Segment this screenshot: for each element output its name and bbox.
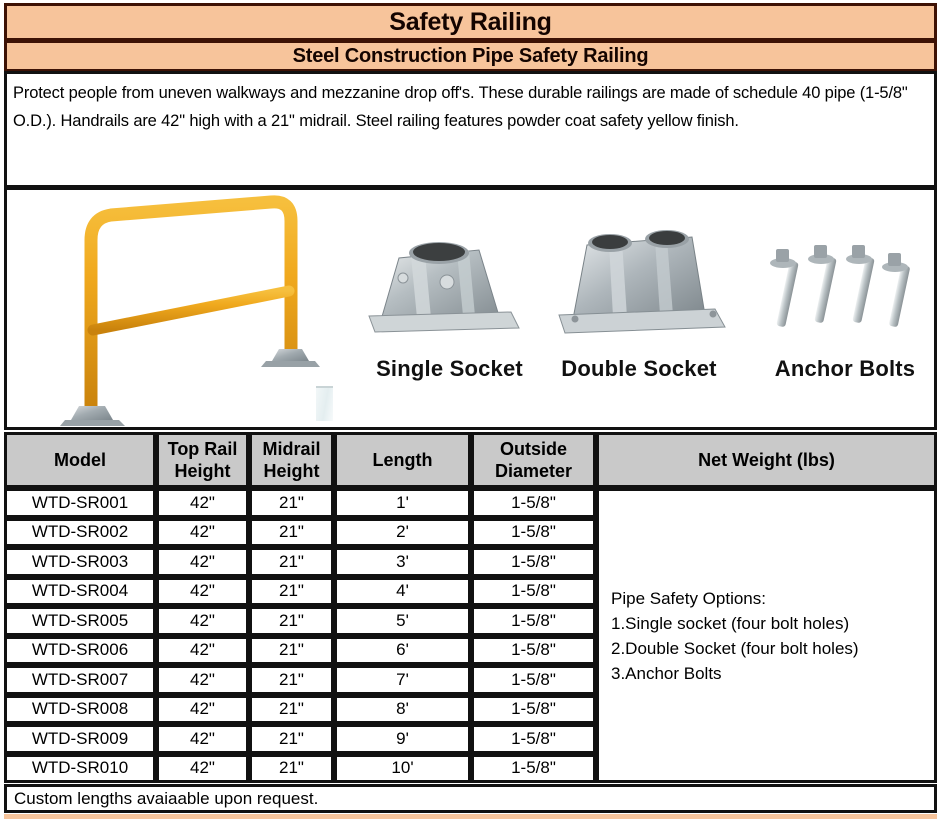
cell-outside-diameter: 1-5/8" bbox=[471, 606, 596, 636]
option-item: 1.Single socket (four bolt holes) bbox=[611, 611, 934, 636]
cell-midrail-height: 21" bbox=[249, 695, 334, 725]
midrail bbox=[93, 291, 289, 330]
cell-net-weight-options: Pipe Safety Options: 1.Single socket (fo… bbox=[596, 488, 937, 783]
cell-model: WTD-SR002 bbox=[4, 518, 156, 548]
cell-top-rail-height: 42" bbox=[156, 724, 249, 754]
page-title: Safety Railing bbox=[4, 3, 937, 41]
cell-top-rail-height: 42" bbox=[156, 606, 249, 636]
cell-model: WTD-SR003 bbox=[4, 547, 156, 577]
cell-outside-diameter: 1-5/8" bbox=[471, 636, 596, 666]
cell-midrail-height: 21" bbox=[249, 577, 334, 607]
single-socket-image bbox=[359, 220, 539, 345]
cell-outside-diameter: 1-5/8" bbox=[471, 695, 596, 725]
cell-outside-diameter: 1-5/8" bbox=[471, 577, 596, 607]
cell-length: 1' bbox=[334, 488, 471, 518]
cell-length: 7' bbox=[334, 665, 471, 695]
table-body: WTD-SR001 42" 21" 1' 1-5/8" Pipe Safety … bbox=[4, 488, 937, 783]
cell-length: 2' bbox=[334, 518, 471, 548]
cell-outside-diameter: 1-5/8" bbox=[471, 488, 596, 518]
anchor-bolt bbox=[846, 245, 875, 323]
caption-anchor-bolts: Anchor Bolts bbox=[759, 356, 931, 382]
cell-length: 9' bbox=[334, 724, 471, 754]
cell-top-rail-height: 42" bbox=[156, 518, 249, 548]
table-row: WTD-SR001 42" 21" 1' 1-5/8" Pipe Safety … bbox=[4, 488, 937, 518]
page-title-text: Safety Railing bbox=[389, 8, 552, 37]
option-item: 3.Anchor Bolts bbox=[611, 661, 934, 686]
cell-midrail-height: 21" bbox=[249, 488, 334, 518]
cell-model: WTD-SR010 bbox=[4, 754, 156, 784]
cell-midrail-height: 21" bbox=[249, 665, 334, 695]
bottom-accent-strip bbox=[4, 814, 937, 819]
caption-single-socket: Single Socket bbox=[362, 356, 537, 382]
cell-outside-diameter: 1-5/8" bbox=[471, 724, 596, 754]
column-header-outside-diameter: Outside Diameter bbox=[471, 432, 596, 488]
column-header-net-weight: Net Weight (lbs) bbox=[596, 432, 937, 488]
image-artifact bbox=[316, 386, 333, 421]
product-spec-sheet: Safety Railing Steel Construction Pipe S… bbox=[0, 0, 941, 819]
description-box: Protect people from uneven walkways and … bbox=[4, 71, 937, 188]
cell-top-rail-height: 42" bbox=[156, 695, 249, 725]
base-plate-right bbox=[261, 349, 320, 367]
cell-outside-diameter: 1-5/8" bbox=[471, 547, 596, 577]
safety-railing-photo bbox=[59, 194, 349, 426]
footer-note: Custom lengths avaiaable upon request. bbox=[4, 784, 937, 813]
cell-midrail-height: 21" bbox=[249, 518, 334, 548]
anchor-bolt bbox=[882, 253, 910, 327]
footer-note-text: Custom lengths avaiaable upon request. bbox=[14, 789, 318, 809]
cell-length: 10' bbox=[334, 754, 471, 784]
specification-table: Model Top Rail Height Midrail Height Len… bbox=[4, 432, 937, 783]
page-subtitle-text: Steel Construction Pipe Safety Railing bbox=[293, 45, 649, 68]
column-header-model: Model bbox=[4, 432, 156, 488]
cell-top-rail-height: 42" bbox=[156, 488, 249, 518]
description-text: Protect people from uneven walkways and … bbox=[13, 79, 928, 135]
cell-length: 6' bbox=[334, 636, 471, 666]
cell-model: WTD-SR004 bbox=[4, 577, 156, 607]
cell-outside-diameter: 1-5/8" bbox=[471, 518, 596, 548]
cell-top-rail-height: 42" bbox=[156, 665, 249, 695]
cell-model: WTD-SR006 bbox=[4, 636, 156, 666]
caption-double-socket: Double Socket bbox=[544, 356, 734, 382]
product-image-band: Single Socket Double Socket Anchor Bolts bbox=[4, 188, 937, 430]
cell-midrail-height: 21" bbox=[249, 724, 334, 754]
cell-length: 4' bbox=[334, 577, 471, 607]
anchor-bolt bbox=[808, 245, 837, 323]
cell-top-rail-height: 42" bbox=[156, 547, 249, 577]
double-socket-image bbox=[547, 215, 732, 345]
cell-model: WTD-SR001 bbox=[4, 488, 156, 518]
cell-top-rail-height: 42" bbox=[156, 636, 249, 666]
cell-length: 5' bbox=[334, 606, 471, 636]
cell-outside-diameter: 1-5/8" bbox=[471, 665, 596, 695]
cell-top-rail-height: 42" bbox=[156, 577, 249, 607]
option-item: 2.Double Socket (four bolt holes) bbox=[611, 636, 934, 661]
options-heading: Pipe Safety Options: bbox=[611, 586, 934, 611]
base-plate-left bbox=[60, 406, 125, 426]
anchor-bolt bbox=[770, 249, 799, 327]
anchor-bolts-image bbox=[759, 235, 929, 345]
cell-midrail-height: 21" bbox=[249, 606, 334, 636]
cell-model: WTD-SR009 bbox=[4, 724, 156, 754]
table-header-row: Model Top Rail Height Midrail Height Len… bbox=[4, 432, 937, 488]
cell-outside-diameter: 1-5/8" bbox=[471, 754, 596, 784]
cell-top-rail-height: 42" bbox=[156, 754, 249, 784]
column-header-length: Length bbox=[334, 432, 471, 488]
cell-length: 3' bbox=[334, 547, 471, 577]
cell-length: 8' bbox=[334, 695, 471, 725]
cell-midrail-height: 21" bbox=[249, 636, 334, 666]
page-subtitle: Steel Construction Pipe Safety Railing bbox=[4, 40, 937, 72]
cell-midrail-height: 21" bbox=[249, 547, 334, 577]
cell-model: WTD-SR005 bbox=[4, 606, 156, 636]
cell-model: WTD-SR007 bbox=[4, 665, 156, 695]
column-header-top-rail-height: Top Rail Height bbox=[156, 432, 249, 488]
cell-model: WTD-SR008 bbox=[4, 695, 156, 725]
cell-midrail-height: 21" bbox=[249, 754, 334, 784]
column-header-midrail-height: Midrail Height bbox=[249, 432, 334, 488]
